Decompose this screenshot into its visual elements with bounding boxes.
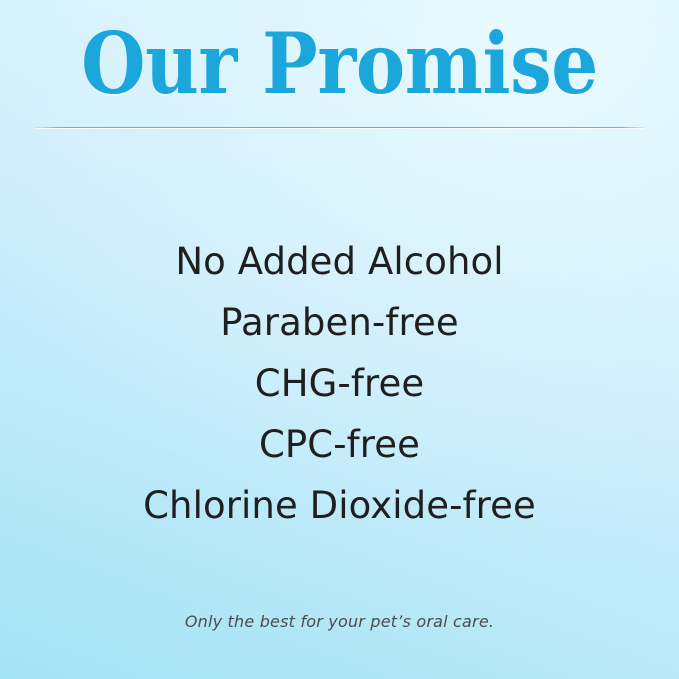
list-item: Paraben-free — [0, 292, 679, 353]
list-item: No Added Alcohol — [0, 231, 679, 292]
page-title: Our Promise — [41, 18, 639, 110]
list-item: CPC-free — [0, 414, 679, 475]
promise-list: No Added Alcohol Paraben-free CHG-free C… — [0, 231, 679, 536]
our-promise-card: Our Promise No Added Alcohol Paraben-fre… — [0, 0, 679, 679]
list-item: Chlorine Dioxide-free — [0, 475, 679, 536]
list-item: CHG-free — [0, 353, 679, 414]
title-divider — [35, 127, 645, 128]
footer-tagline: Only the best for your pet’s oral care. — [0, 610, 679, 634]
